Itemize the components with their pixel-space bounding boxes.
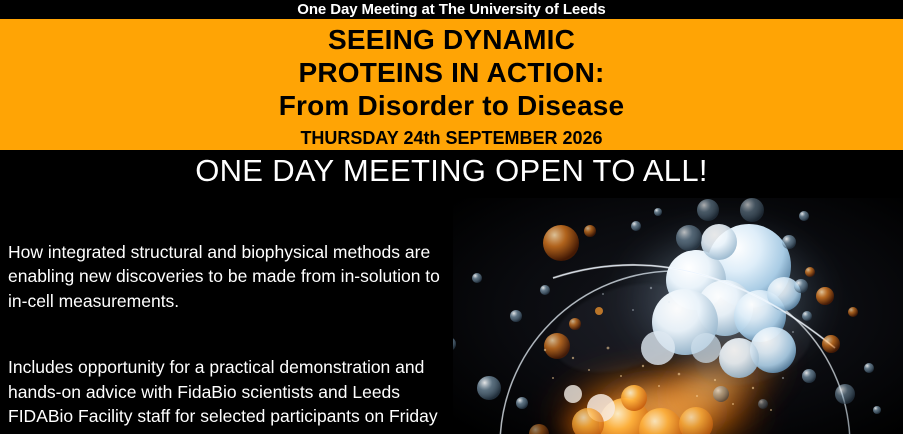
body-paragraph-2: Includes opportunity for a practical dem…	[8, 355, 448, 434]
top-banner-text: One Day Meeting at The University of Lee…	[297, 1, 605, 18]
protein-artwork-image	[453, 198, 903, 434]
title-banner: SEEING DYNAMIC PROTEINS IN ACTION: From …	[0, 19, 903, 150]
title-line-3: From Disorder to Disease	[279, 89, 625, 122]
event-poster: One Day Meeting at The University of Lee…	[0, 0, 903, 434]
top-banner: One Day Meeting at The University of Lee…	[0, 0, 903, 19]
body-paragraph-1: How integrated structural and biophysica…	[8, 240, 448, 314]
title-line-1: SEEING DYNAMIC	[328, 23, 575, 56]
title-line-2: PROTEINS IN ACTION:	[298, 56, 604, 89]
protein-artwork-svg	[453, 198, 903, 434]
event-date: THURSDAY 24th SEPTEMBER 2026	[300, 127, 602, 149]
open-to-all-headline: ONE DAY MEETING OPEN TO ALL!	[0, 153, 903, 189]
body-text-column: How integrated structural and biophysica…	[8, 222, 448, 434]
